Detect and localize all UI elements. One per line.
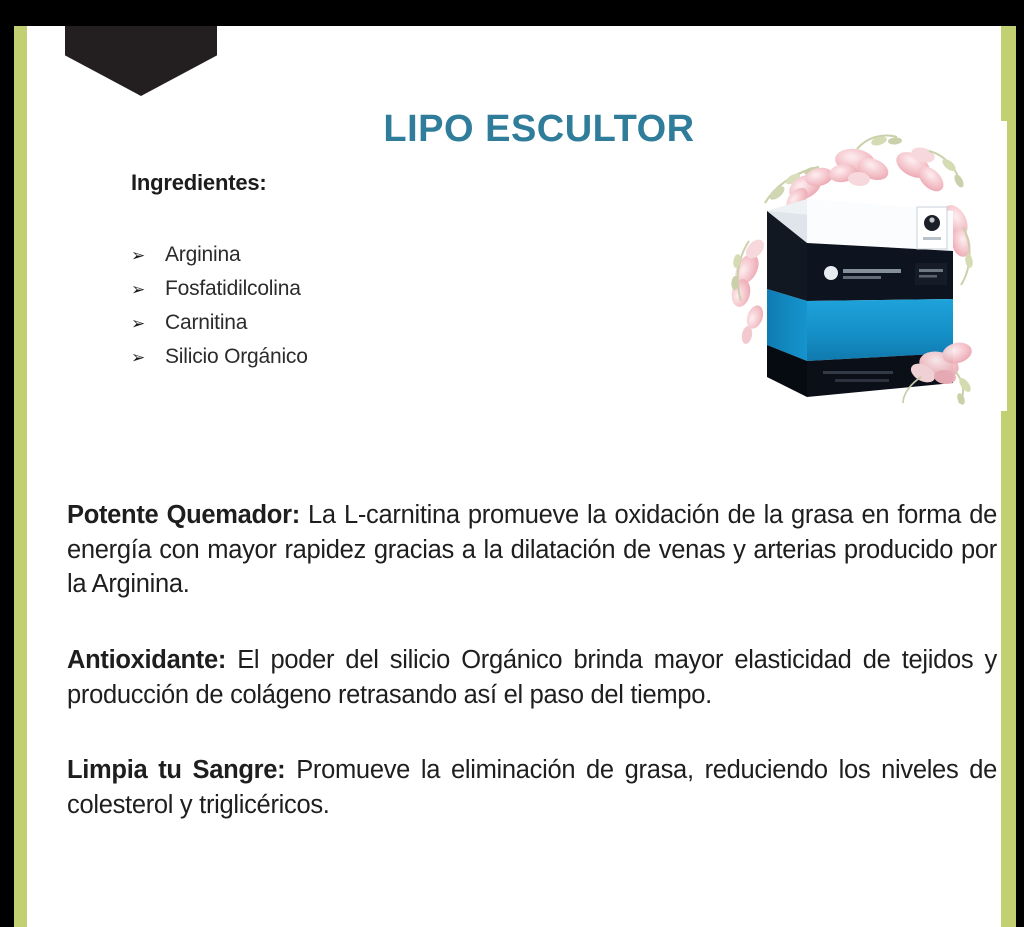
list-item-label: Carnitina: [165, 312, 247, 333]
slide-canvas: LIPO ESCULTOR Ingredientes: ➢ Arginina ➢…: [0, 0, 1024, 927]
list-item-label: Silicio Orgánico: [165, 346, 308, 367]
benefit-heading: Potente Quemador:: [67, 501, 300, 529]
ingredients-heading: Ingredientes:: [131, 170, 267, 196]
list-item: ➢ Arginina: [131, 244, 308, 265]
arrow-bullet-icon: ➢: [131, 281, 165, 298]
frame-top-bar: [0, 0, 1024, 26]
ingredients-list: ➢ Arginina ➢ Fosfatidilcolina ➢ Carnitin…: [131, 244, 308, 380]
frame-right-bar: [1016, 0, 1024, 927]
benefit-paragraph: Potente Quemador: La L-carnitina promuev…: [67, 498, 997, 602]
list-item: ➢ Silicio Orgánico: [131, 346, 308, 367]
benefit-paragraph: Limpia tu Sangre: Promueve la eliminació…: [67, 753, 997, 822]
product-image: [707, 121, 1007, 411]
benefit-paragraph: Antioxidante: El poder del silicio Orgán…: [67, 643, 997, 712]
arrow-bullet-icon: ➢: [131, 315, 165, 332]
page-title: LIPO ESCULTOR: [339, 108, 739, 151]
list-item-label: Fosfatidilcolina: [165, 278, 301, 299]
arrow-bullet-icon: ➢: [131, 349, 165, 366]
list-item: ➢ Carnitina: [131, 312, 308, 333]
slide-content-area: LIPO ESCULTOR Ingredientes: ➢ Arginina ➢…: [27, 26, 1001, 927]
accent-stripe-left: [14, 26, 27, 927]
benefit-heading: Limpia tu Sangre:: [67, 756, 285, 784]
benefit-heading: Antioxidante:: [67, 646, 226, 674]
chevron-banner-icon: [65, 26, 217, 96]
benefits-section: Potente Quemador: La L-carnitina promuev…: [67, 498, 997, 823]
list-item: ➢ Fosfatidilcolina: [131, 278, 308, 299]
list-item-label: Arginina: [165, 244, 240, 265]
arrow-bullet-icon: ➢: [131, 247, 165, 264]
